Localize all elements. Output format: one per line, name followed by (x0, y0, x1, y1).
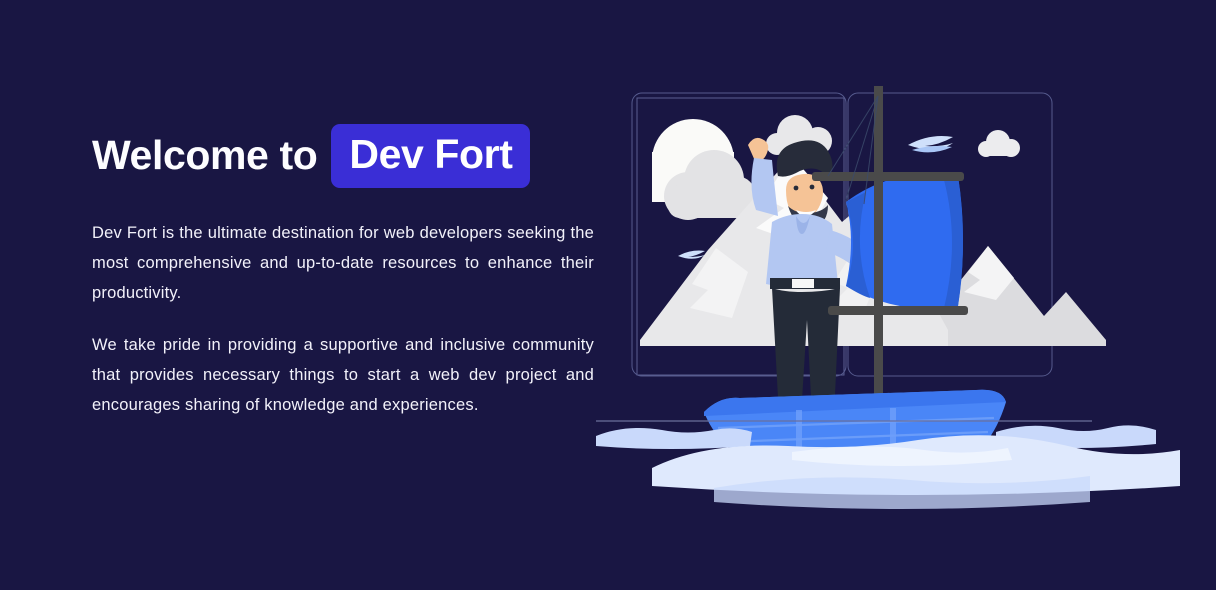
mast-yard-top (812, 172, 964, 181)
mast (874, 86, 883, 416)
intro-paragraph-1: Dev Fort is the ultimate destination for… (92, 218, 594, 308)
bird-right-icon (908, 136, 953, 152)
headline-badge: Dev Fort (331, 124, 530, 188)
headline-prefix: Welcome to (92, 133, 331, 178)
sailor-left-hand (748, 138, 768, 161)
intro-paragraph-2: We take pride in providing a supportive … (92, 330, 594, 420)
mast-yard-bottom (828, 306, 968, 315)
page-title: Welcome to Dev Fort (92, 124, 594, 188)
bird-left-icon (678, 251, 705, 259)
hero-section: Welcome to Dev Fort Dev Fort is the ulti… (0, 0, 1216, 590)
sailor-on-boat-illustration (596, 0, 1216, 590)
cloud-small-right (978, 130, 1020, 157)
hero-copy: Welcome to Dev Fort Dev Fort is the ulti… (92, 124, 594, 420)
